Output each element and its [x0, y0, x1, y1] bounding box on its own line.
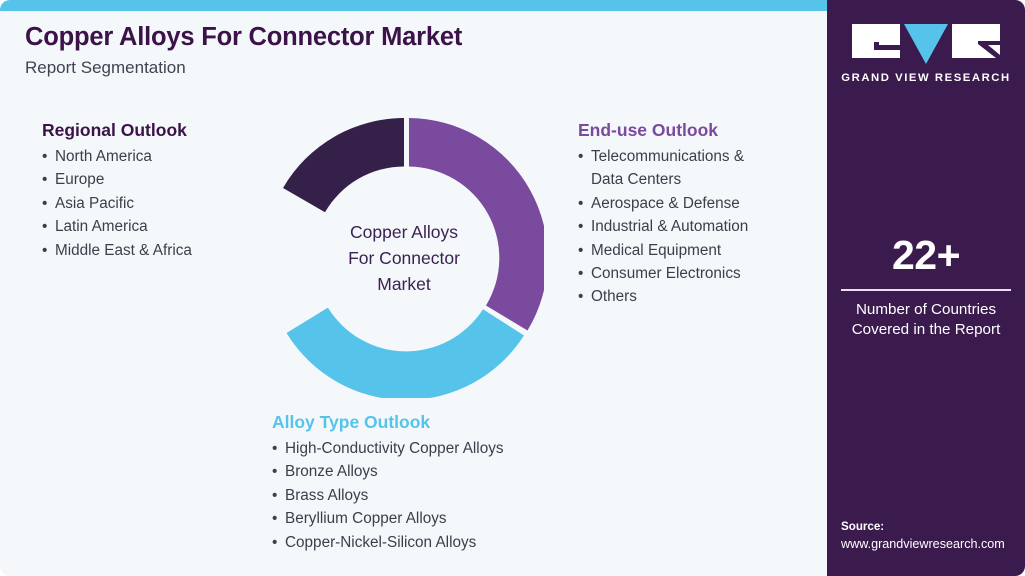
- donut-chart: Copper Alloys For Connector Market: [264, 118, 544, 398]
- page-title: Copper Alloys For Connector Market: [25, 23, 725, 52]
- logo-wordmark: GRAND VIEW RESEARCH: [841, 72, 1010, 84]
- list-item: Middle East & Africa: [42, 239, 257, 262]
- list-item: Telecommunications & Data Centers: [578, 145, 813, 192]
- list-item: Latin America: [42, 215, 257, 238]
- infographic-root: Copper Alloys For Connector Market Repor…: [0, 0, 1025, 576]
- list-item-line2: Data Centers: [591, 168, 813, 191]
- enduse-outlook-list: Telecommunications & Data Centers Aerosp…: [578, 145, 813, 309]
- alloy-type-outlook-list: High-Conductivity Copper Alloys Bronze A…: [272, 437, 602, 554]
- enduse-outlook-block: End-use Outlook Telecommunications & Dat…: [578, 120, 813, 309]
- list-item-line1: Telecommunications &: [591, 148, 744, 165]
- logo-r-icon: [952, 24, 1000, 58]
- logo-v-triangle-icon: [904, 24, 948, 64]
- source-block: Source: www.grandviewresearch.com: [841, 518, 1021, 554]
- stat-divider: [841, 289, 1011, 291]
- list-item: North America: [42, 145, 257, 168]
- list-item: Bronze Alloys: [272, 460, 602, 483]
- list-item: Copper-Nickel-Silicon Alloys: [272, 531, 602, 554]
- alloy-type-outlook-block: Alloy Type Outlook High-Conductivity Cop…: [272, 412, 602, 554]
- source-label: Source:: [841, 518, 1021, 535]
- stat-caption-line-1: Number of Countries: [841, 300, 1011, 320]
- donut-segment-enduse: [409, 118, 544, 331]
- regional-outlook-heading: Regional Outlook: [42, 120, 257, 141]
- list-item: High-Conductivity Copper Alloys: [272, 437, 602, 460]
- stat-caption-line-2: Covered in the Report: [841, 320, 1011, 340]
- donut-segment-regional: [283, 118, 404, 212]
- list-item: Medical Equipment: [578, 239, 813, 262]
- donut-chart-svg: [264, 118, 544, 398]
- stat-caption: Number of Countries Covered in the Repor…: [841, 300, 1011, 340]
- donut-segment-alloy: [287, 308, 524, 398]
- list-item: Others: [578, 285, 813, 308]
- list-item: Beryllium Copper Alloys: [272, 507, 602, 530]
- list-item: Asia Pacific: [42, 192, 257, 215]
- list-item: Aerospace & Defense: [578, 192, 813, 215]
- list-item: Industrial & Automation: [578, 215, 813, 238]
- list-item: Brass Alloys: [272, 484, 602, 507]
- stat-value: 22+: [841, 235, 1011, 276]
- source-url[interactable]: www.grandviewresearch.com: [841, 535, 1021, 554]
- regional-outlook-list: North America Europe Asia Pacific Latin …: [42, 145, 257, 262]
- brand-logo: GRAND VIEW RESEARCH: [827, 24, 1025, 84]
- top-accent-bar: [0, 0, 827, 11]
- alloy-type-outlook-heading: Alloy Type Outlook: [272, 412, 602, 433]
- page-subtitle: Report Segmentation: [25, 58, 725, 78]
- enduse-outlook-heading: End-use Outlook: [578, 120, 813, 141]
- list-item: Consumer Electronics: [578, 262, 813, 285]
- header: Copper Alloys For Connector Market Repor…: [25, 23, 725, 78]
- logo-marks: [852, 24, 1000, 64]
- logo-g-icon: [852, 24, 900, 58]
- list-item: Europe: [42, 168, 257, 191]
- side-panel: GRAND VIEW RESEARCH 22+ Number of Countr…: [827, 0, 1025, 576]
- stat-block: 22+ Number of Countries Covered in the R…: [841, 235, 1011, 340]
- regional-outlook-block: Regional Outlook North America Europe As…: [42, 120, 257, 262]
